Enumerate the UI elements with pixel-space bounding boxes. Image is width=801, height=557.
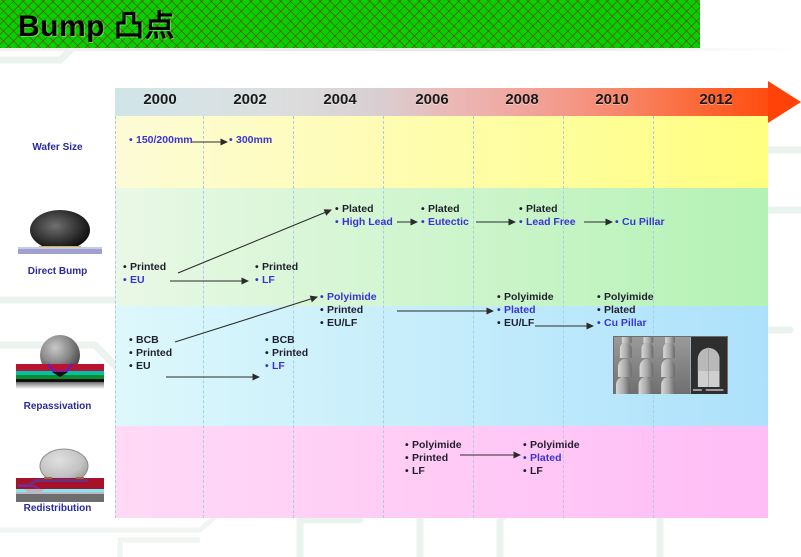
row-label-redistribution: Redistribution <box>0 503 115 514</box>
entry-text: Polyimide <box>604 291 654 303</box>
entry-text: Polyimide <box>412 439 462 451</box>
redistribution-illustration <box>14 446 106 504</box>
entry-text: LF <box>262 274 275 286</box>
entry-redist-2006: •Polyimide •Printed •LF <box>405 439 462 478</box>
entry-text: Polyimide <box>530 439 580 451</box>
entry-bump-2000: •Printed •EU <box>123 261 166 287</box>
entry-bump-2010: •Cu Pillar <box>615 216 665 229</box>
year-2006: 2006 <box>387 91 477 108</box>
entry-wafer-300mm: •300mm <box>229 134 272 147</box>
entry-text: Cu Pillar <box>622 216 665 228</box>
row-label-column: Wafer Size Direct Bump Repassivation Red… <box>0 116 115 518</box>
entry-text: Printed <box>136 347 172 359</box>
entry-text: Printed <box>327 304 363 316</box>
entry-text: BCB <box>136 334 159 346</box>
entry-repass-2004: •Polyimide •Printed •EU/LF <box>320 291 377 330</box>
entry-text: EU/LF <box>504 317 534 329</box>
entry-text: BCB <box>272 334 295 346</box>
year-2000: 2000 <box>115 91 205 108</box>
entry-text: LF <box>530 465 543 477</box>
entry-text: Printed <box>130 261 166 273</box>
entry-text: Printed <box>412 452 448 464</box>
page-title: Bump 凸点 <box>18 1 175 45</box>
roadmap-chart: 2000 2002 2004 2006 2008 2010 2012 <box>115 88 768 518</box>
year-2004: 2004 <box>295 91 385 108</box>
entry-text: Plated <box>526 203 558 215</box>
entry-text: Eutectic <box>428 216 469 228</box>
entry-text: LF <box>272 360 285 372</box>
entry-text: 300mm <box>236 134 272 146</box>
row-label-repassivation: Repassivation <box>0 401 115 412</box>
entry-text: Printed <box>262 261 298 273</box>
slide-title-bar: Bump 凸点 <box>0 0 700 48</box>
entry-text: High Lead <box>342 216 393 228</box>
entry-text: Plated <box>504 304 536 316</box>
entry-bump-2008: •Plated •Lead Free <box>519 203 576 229</box>
entry-text: Lead Free <box>526 216 576 228</box>
entry-text: Polyimide <box>327 291 377 303</box>
entry-repass-2010: •Polyimide •Plated •Cu Pillar <box>597 291 654 330</box>
row-label-wafer-size: Wafer Size <box>0 142 115 153</box>
entry-text: Plated <box>530 452 562 464</box>
repassivation-illustration <box>14 328 106 390</box>
year-2002: 2002 <box>205 91 295 108</box>
entry-text: 150/200mm <box>136 134 193 146</box>
year-2012: 2012 <box>671 91 761 108</box>
entry-text: Polyimide <box>504 291 554 303</box>
entry-text: EU <box>136 360 151 372</box>
entry-text: Cu Pillar <box>604 317 647 329</box>
entry-bump-2006: •Plated •Eutectic <box>421 203 469 229</box>
cu-pillar-array-image <box>614 337 691 394</box>
entry-bump-2002: •Printed •LF <box>255 261 298 287</box>
row-wafer-size <box>115 116 768 188</box>
entry-text: LF <box>412 465 425 477</box>
entry-text: Plated <box>342 203 374 215</box>
row-label-direct-bump: Direct Bump <box>0 266 115 277</box>
entry-text: Plated <box>604 304 636 316</box>
year-2010: 2010 <box>567 91 657 108</box>
entry-repass-2008: •Polyimide •Plated •EU/LF <box>497 291 554 330</box>
year-2008: 2008 <box>477 91 567 108</box>
entry-text: EU/LF <box>327 317 357 329</box>
entry-redist-2008: •Polyimide •Plated •LF <box>523 439 580 478</box>
entry-bump-2004: •Plated •High Lead <box>335 203 393 229</box>
entry-text: EU <box>130 274 145 286</box>
entry-repass-2000: •BCB •Printed •EU <box>129 334 172 373</box>
entry-text: Plated <box>428 203 460 215</box>
direct-bump-illustration <box>14 202 106 262</box>
title-divider <box>0 48 801 51</box>
entry-wafer-150-200mm: •150/200mm <box>129 134 193 147</box>
entry-text: Printed <box>272 347 308 359</box>
cu-pillar-sem-photo <box>613 336 728 394</box>
entry-repass-2002: •BCB •Printed •LF <box>265 334 308 373</box>
timeline-arrow-head <box>768 81 801 123</box>
cu-pillar-cross-section-image <box>691 337 727 394</box>
timeline-header: 2000 2002 2004 2006 2008 2010 2012 <box>115 88 768 116</box>
slide-canvas: Bump 凸点 Wafer Size Direct Bump Repassiva… <box>0 0 801 557</box>
